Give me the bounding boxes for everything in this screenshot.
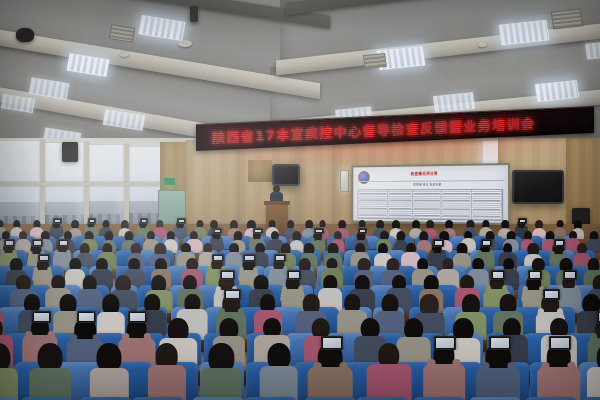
smartphone-camera (253, 228, 263, 235)
smoke-detector (478, 42, 487, 47)
conference-hall-photo: 检查情况评分表 督导组 单位 检查日期 陕西省17本宣疾控中心督导检查反馈暨业务… (0, 0, 600, 400)
smartphone-camera (543, 289, 560, 300)
wall-loudspeaker (62, 142, 78, 162)
attendee-torso (29, 368, 71, 400)
smartphone-camera (518, 218, 527, 224)
ceiling-speaker (16, 28, 34, 42)
smartphone-camera (321, 336, 343, 350)
smartphone-camera (287, 270, 302, 280)
smartphone-camera (224, 289, 241, 300)
smartphone-camera (358, 228, 368, 235)
smoke-detector (178, 40, 192, 47)
seated-attendee (539, 343, 579, 400)
seated-attendee (369, 343, 409, 400)
wall-mounted-display (512, 170, 564, 204)
smartphone-camera (220, 270, 235, 280)
attendee-torso (148, 365, 186, 400)
smartphone-camera (213, 228, 223, 235)
attendee-arm (220, 237, 224, 247)
smartphone-camera (88, 218, 97, 224)
smartphone-camera (554, 239, 565, 246)
slide-subtitle: 督导组 单位 检查日期 (413, 182, 441, 186)
smartphone-camera (212, 254, 225, 262)
smartphone-camera (491, 270, 506, 280)
emergency-exit-sign (164, 178, 175, 185)
attendee-torso (367, 364, 412, 400)
smartphone-camera (128, 311, 147, 323)
smartphone-camera (563, 270, 578, 280)
smartphone-camera (4, 239, 15, 246)
wood-wall-panel (248, 160, 272, 182)
attendee-torso (259, 366, 298, 400)
smartphone-camera (489, 336, 511, 350)
seated-attendee (0, 343, 18, 400)
smartphone-camera (481, 239, 492, 246)
smartphone-camera (32, 311, 51, 323)
attendee-torso (587, 367, 600, 400)
smartphone-camera (32, 239, 43, 246)
smoke-detector (120, 52, 129, 57)
seated-attendee (30, 343, 70, 400)
window-mullion (0, 182, 164, 186)
smartphone-camera (274, 254, 287, 262)
seated-attendee (478, 343, 518, 400)
slide-title: 检查情况评分表 (411, 171, 438, 177)
attendee-torso (201, 368, 242, 400)
smartphone-camera (549, 336, 571, 350)
seated-attendee (589, 343, 600, 400)
seated-attendee (310, 343, 350, 400)
air-vent-grille (363, 53, 387, 69)
recessed-panel-light (585, 40, 600, 59)
smartphone-camera (314, 228, 324, 235)
smartphone-camera (177, 218, 186, 224)
seated-attendee (424, 343, 464, 400)
smartphone-camera (77, 311, 96, 323)
attendee-torso (0, 368, 18, 400)
wall-mounted-display (272, 164, 300, 186)
smartphone-camera (58, 239, 69, 246)
smartphone-camera (140, 218, 149, 224)
smartphone-camera (38, 254, 51, 262)
attendee-torso (90, 368, 128, 400)
smartphone-camera (434, 336, 456, 350)
seated-attendee (259, 343, 299, 400)
ceiling-projector (190, 6, 198, 22)
air-vent-grille (551, 9, 584, 30)
smartphone-camera (433, 239, 444, 246)
seated-attendee (147, 343, 187, 400)
wall-sconce-light (340, 170, 349, 192)
smartphone-camera (53, 218, 62, 224)
seated-attendee (201, 343, 241, 400)
smartphone-camera (243, 254, 256, 262)
smartphone-camera (528, 270, 543, 280)
audience-seating-area (0, 215, 600, 400)
seated-attendee (89, 343, 129, 400)
